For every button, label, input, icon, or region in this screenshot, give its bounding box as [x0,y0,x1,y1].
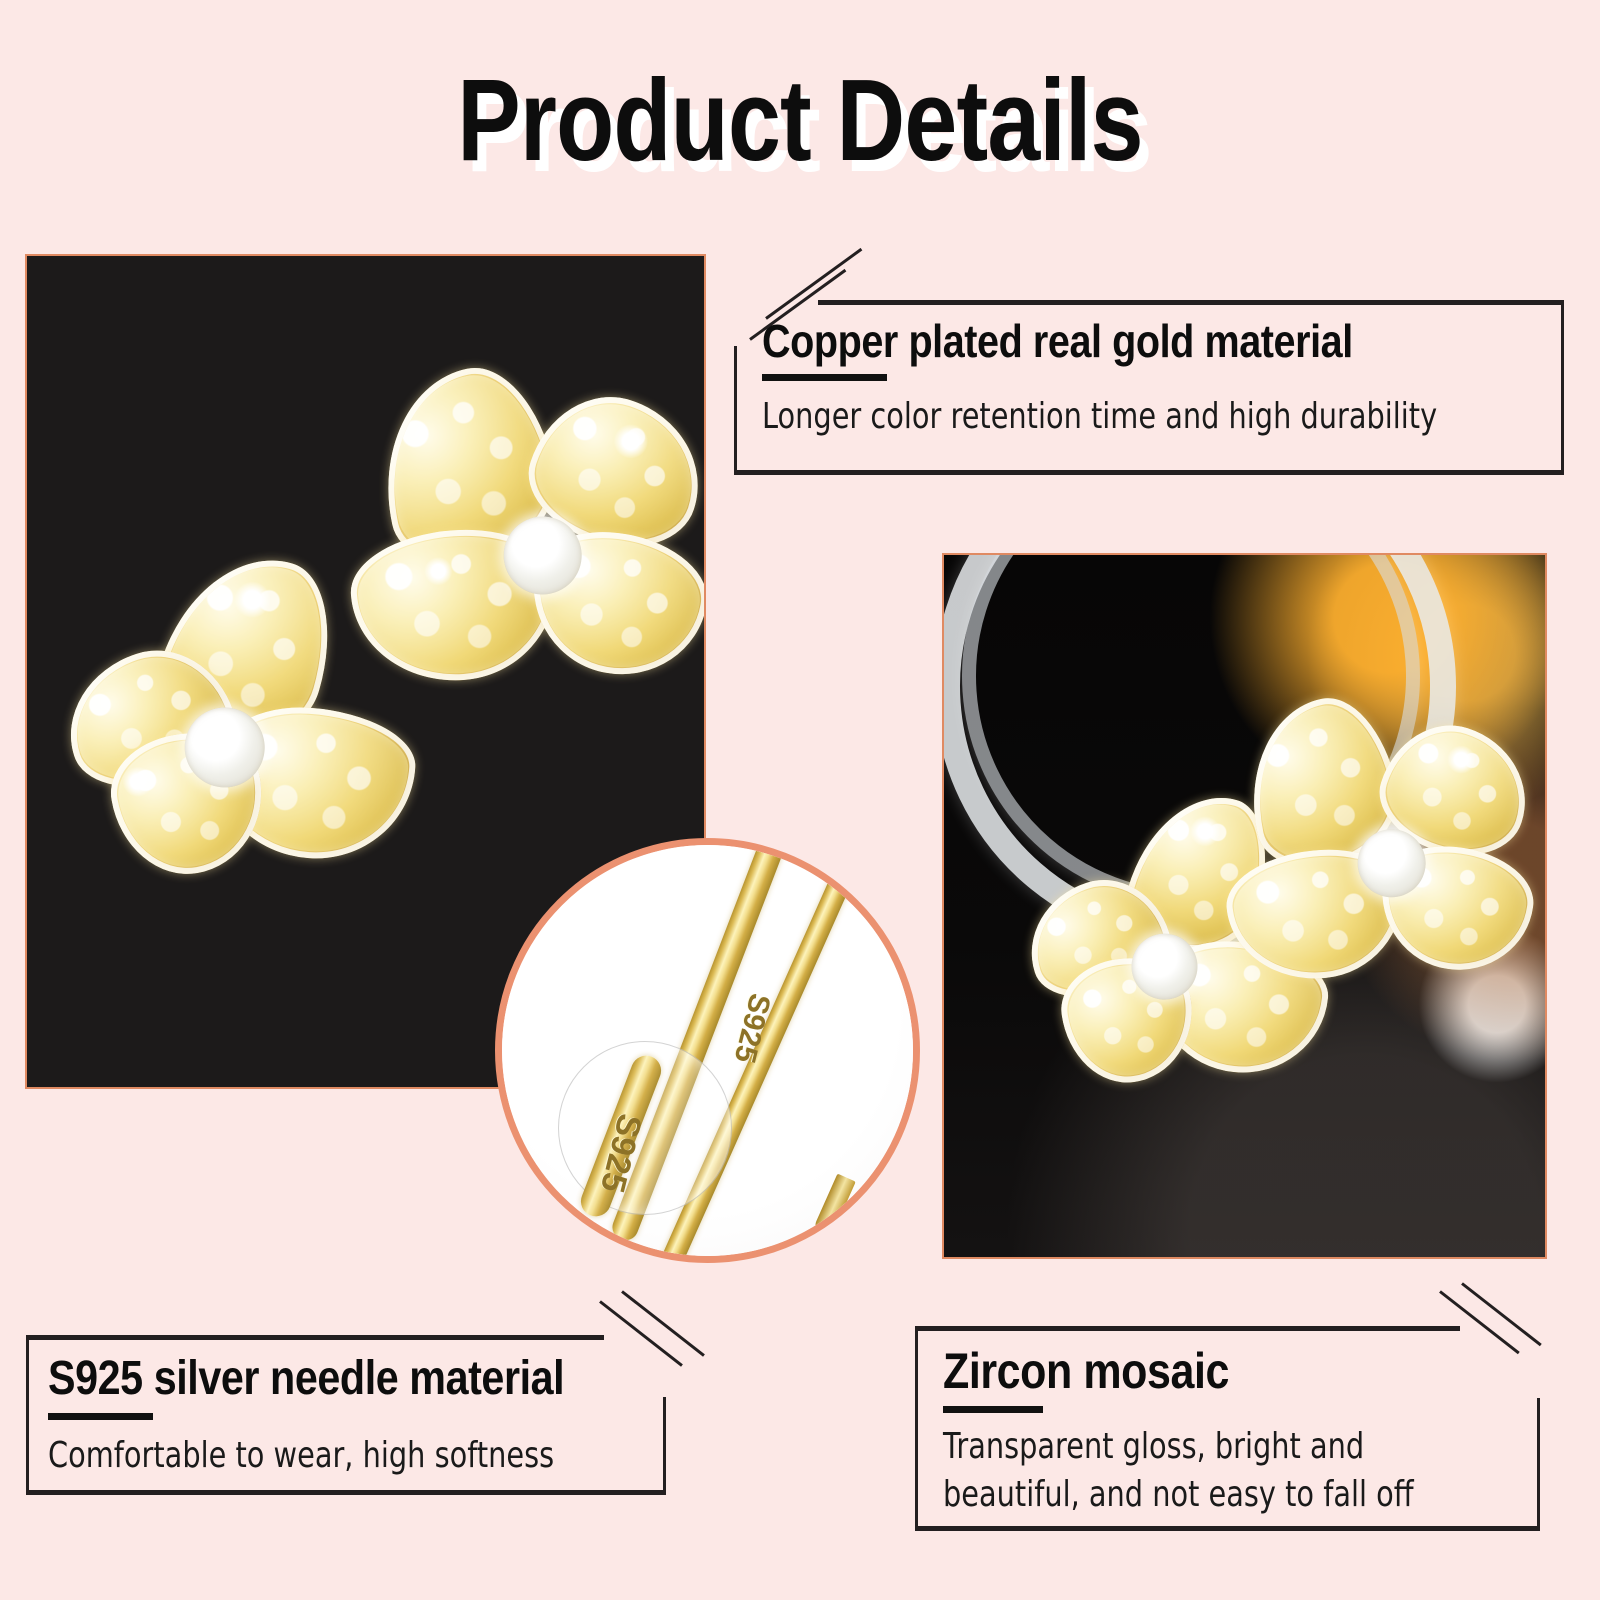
box-border-left [915,1326,918,1531]
callout-silver-needle: S925 silver needle material Comfortable … [26,1335,666,1495]
page-title: Product Details [144,62,1456,178]
needle-detail-circle: S925 S925 [495,838,920,1263]
box-border-left [26,1335,29,1495]
callout-body: Longer color retention time and high dur… [762,396,1437,437]
box-border-top [915,1326,1460,1331]
callout-zircon-mosaic: Zircon mosaic Transparent gloss, bright … [915,1326,1540,1531]
box-border-top [26,1335,604,1340]
needle-circle-canvas: S925 S925 [502,845,913,1256]
box-border-left [734,346,737,475]
callout-heading-underline [48,1413,153,1420]
callout-heading: Zircon mosaic [943,1342,1229,1400]
infographic-canvas: Product Details [0,0,1600,1600]
callout-heading: Copper plated real gold material [762,314,1353,368]
box-border-bottom [734,470,1564,475]
callout-body: Comfortable to wear, high softness [48,1435,554,1476]
callout-body-line-1: Transparent gloss, bright and [943,1426,1364,1467]
earring-post-tip [812,1174,855,1239]
callout-heading-underline [943,1406,1043,1413]
box-border-right [1537,1398,1540,1531]
box-border-bottom [26,1490,666,1495]
butterfly-earring-right [346,364,704,708]
callout-copper-plated: Copper plated real gold material Longer … [734,300,1564,475]
lifestyle-photo-earrings-on-stand [942,553,1547,1259]
callout-heading: S925 silver needle material [48,1351,564,1406]
photo-right-canvas [944,555,1545,1257]
box-border-right [663,1397,666,1495]
callout-body-line-2: beautiful, and not easy to fall off [943,1474,1414,1515]
callout-heading-underline [762,374,887,381]
box-border-right [1561,300,1564,475]
butterfly-earring-right [1225,698,1545,1009]
box-border-bottom [915,1526,1540,1531]
box-border-top [818,300,1564,305]
